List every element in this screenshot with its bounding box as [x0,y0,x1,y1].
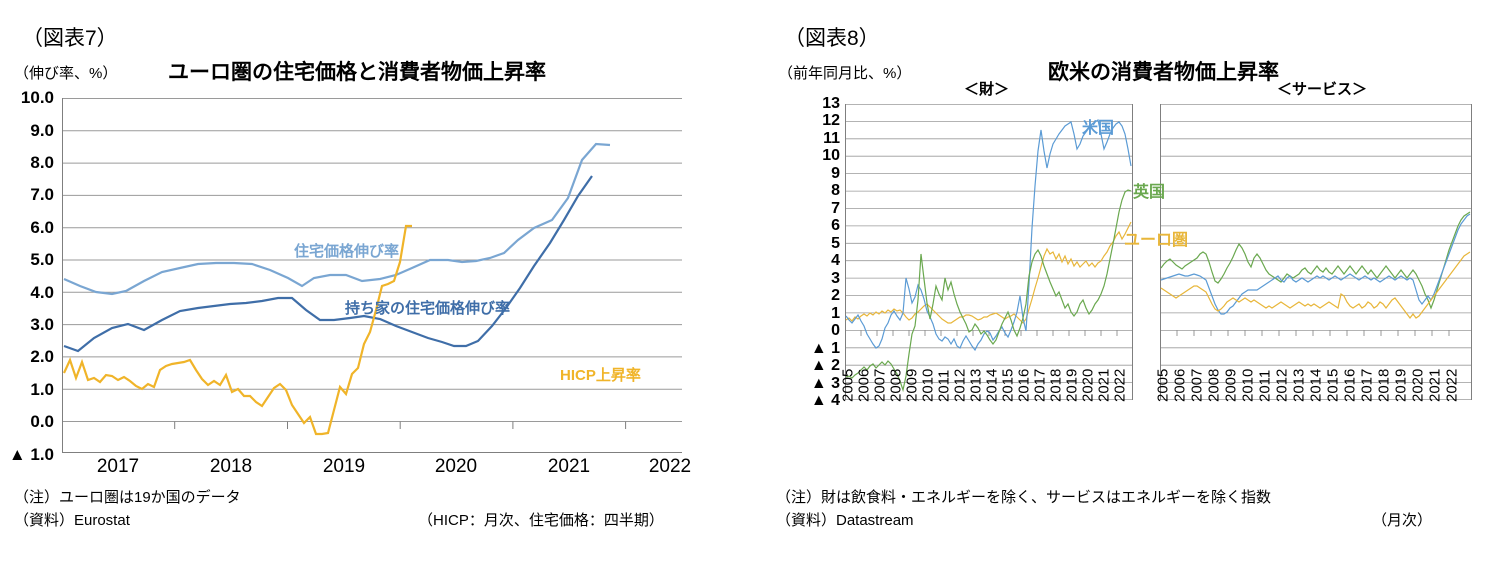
gx-2021: 2021 [1096,369,1113,402]
series-label-us: 米国 [1082,114,1114,138]
y-tick-10: 10.0 [21,88,54,108]
y-tick-2: 2 [831,287,840,305]
figure-8-frequency-note: （月次） [1372,509,1432,530]
y-tick-6: 6 [831,217,840,235]
y-tick-8: 8 [831,182,840,200]
figure-7-panel: （図表7） （伸び率、%） ユーロ圏の住宅価格と消費者物価上昇率 10.0 9.… [0,0,760,569]
gx-2020: 2020 [1080,369,1097,402]
gx-2005: 2005 [840,369,857,402]
figure-8-subtitle-goods: ＜財＞ [964,78,1009,99]
figure-7-unit-label: （伸び率、%） [14,62,117,83]
figure-7-frequency-note: （HICP：月次、住宅価格：四半期） [418,509,664,530]
figure-8-unit-label: （前年同月比、%） [778,62,911,83]
y-tick-4: 4 [831,252,840,270]
y-tick-neg3: ▲ 3 [811,375,840,393]
y-tick-4: 4.0 [30,283,54,303]
sx-2021: 2021 [1427,369,1444,402]
figure-8-subtitle-services: ＜サービス＞ [1277,78,1367,99]
gx-2007: 2007 [872,369,889,402]
figure-8-y-axis: 13 12 11 10 9 8 7 6 5 4 3 2 1 0 ▲ 1 ▲ 2 … [780,100,842,412]
y-tick-1: 1.0 [30,380,54,400]
series-uk-goods-line [846,190,1131,390]
sx-2017: 2017 [1359,369,1376,402]
gx-2012: 2012 [952,369,969,402]
sx-2012: 2012 [1274,369,1291,402]
sx-2006: 2006 [1172,369,1189,402]
y-tick-6: 6.0 [30,218,54,238]
gx-2016: 2016 [1016,369,1033,402]
gx-2010: 2010 [920,369,937,402]
figure-8-title: 欧米の消費者物価上昇率 [1048,56,1279,86]
sx-2016: 2016 [1342,369,1359,402]
gx-2014: 2014 [984,369,1001,402]
figure-7-source: （資料）Eurostat [14,509,130,530]
x-tick-2020: 2020 [435,456,477,478]
y-tick-0: 0.0 [30,412,54,432]
x-tick-marks [175,422,626,430]
y-tick-8: 8.0 [30,153,54,173]
gx-2018: 2018 [1048,369,1065,402]
series-label-eurozone: ユーロ圏 [1124,226,1188,250]
sx-2022: 2022 [1444,369,1461,402]
y-tick-13: 13 [822,95,840,113]
y-tick-0: 0 [831,322,840,340]
figure-8-source: （資料）Datastream [776,509,914,530]
y-tick-7: 7.0 [30,185,54,205]
gridlines-services [1160,104,1472,399]
sx-2005: 2005 [1155,369,1172,402]
y-tick-9: 9.0 [30,121,54,141]
gx-2013: 2013 [968,369,985,402]
x-tick-2022: 2022 [649,456,691,478]
y-tick-3: 3 [831,270,840,288]
gx-2019: 2019 [1064,369,1081,402]
figure-7-x-axis: 2017 2018 2019 2020 2021 2022 [62,456,682,482]
y-tick-5: 5 [831,235,840,253]
figure-8-goods-plot [845,104,1133,400]
gx-2017: 2017 [1032,369,1049,402]
series-label-hicp: HICP上昇率 [560,364,641,385]
sx-2009: 2009 [1223,369,1240,402]
gridlines-goods [845,104,1133,399]
gx-2008: 2008 [888,369,905,402]
figure-7-number: （図表7） [22,22,118,52]
x-tick-2021: 2021 [548,456,590,478]
series-label-house-price: 住宅価格伸び率 [294,240,399,261]
y-tick-10: 10 [822,147,840,165]
y-tick-5: 5.0 [30,250,54,270]
y-tick-3: 3.0 [30,315,54,335]
y-tick-9: 9 [831,165,840,183]
series-us-services-line [1161,214,1470,314]
services-x-tick-marks [1177,330,1449,336]
series-eurozone-goods-line [846,222,1131,323]
gx-2011: 2011 [936,370,953,402]
y-tick-neg1: ▲ 1 [811,340,840,358]
sx-2008: 2008 [1206,369,1223,402]
y-tick-2: 2.0 [30,347,54,367]
y-tick-1: 1 [831,305,840,323]
x-tick-2017: 2017 [97,456,139,478]
sx-2018: 2018 [1376,369,1393,402]
y-tick-7: 7 [831,200,840,218]
x-tick-2018: 2018 [210,456,252,478]
sx-2011: 2011 [1257,370,1274,402]
y-tick-11: 11 [823,130,840,148]
sx-2010: 2010 [1240,369,1257,402]
y-tick-neg1: ▲ 1.0 [9,445,54,465]
sx-2013: 2013 [1291,369,1308,402]
gx-2006: 2006 [856,369,873,402]
figure-7-y-axis: 10.0 9.0 8.0 7.0 6.0 5.0 4.0 3.0 2.0 1.0… [0,90,58,462]
y-tick-neg4: ▲ 4 [811,392,840,410]
series-label-uk: 英国 [1133,178,1165,202]
figure-8-number: （図表8） [784,22,880,52]
y-tick-12: 12 [822,112,840,130]
figure-7-note: （注）ユーロ圏は19か国のデータ [14,486,241,507]
gx-2009: 2009 [904,369,921,402]
figure-8-note: （注）財は飲食料・エネルギーを除く、サービスはエネルギーを除く指数 [776,486,1271,507]
figure-7-plot [62,98,682,453]
series-label-owner-occupied: 持ち家の住宅価格伸び率 [345,297,510,318]
gx-2015: 2015 [1000,369,1017,402]
goods-x-tick-marks [861,330,1117,336]
figure-8-services-x-axis: 2005 2006 2007 2008 2009 2010 2011 2012 … [1160,402,1472,476]
sx-2007: 2007 [1189,369,1206,402]
sx-2014: 2014 [1308,369,1325,402]
sx-2020: 2020 [1410,369,1427,402]
figure-7-title: ユーロ圏の住宅価格と消費者物価上昇率 [168,56,546,86]
figure-8-services-plot [1160,104,1472,400]
x-tick-2019: 2019 [323,456,365,478]
y-tick-neg2: ▲ 2 [811,357,840,375]
gx-2022: 2022 [1112,369,1129,402]
figures-page: （図表7） （伸び率、%） ユーロ圏の住宅価格と消費者物価上昇率 10.0 9.… [0,0,1508,569]
sx-2019: 2019 [1393,369,1410,402]
sx-2015: 2015 [1325,369,1342,402]
figure-8-goods-x-axis: 2005 2006 2007 2008 2009 2010 2011 2012 … [845,402,1133,476]
series-house-price-line [64,144,610,294]
